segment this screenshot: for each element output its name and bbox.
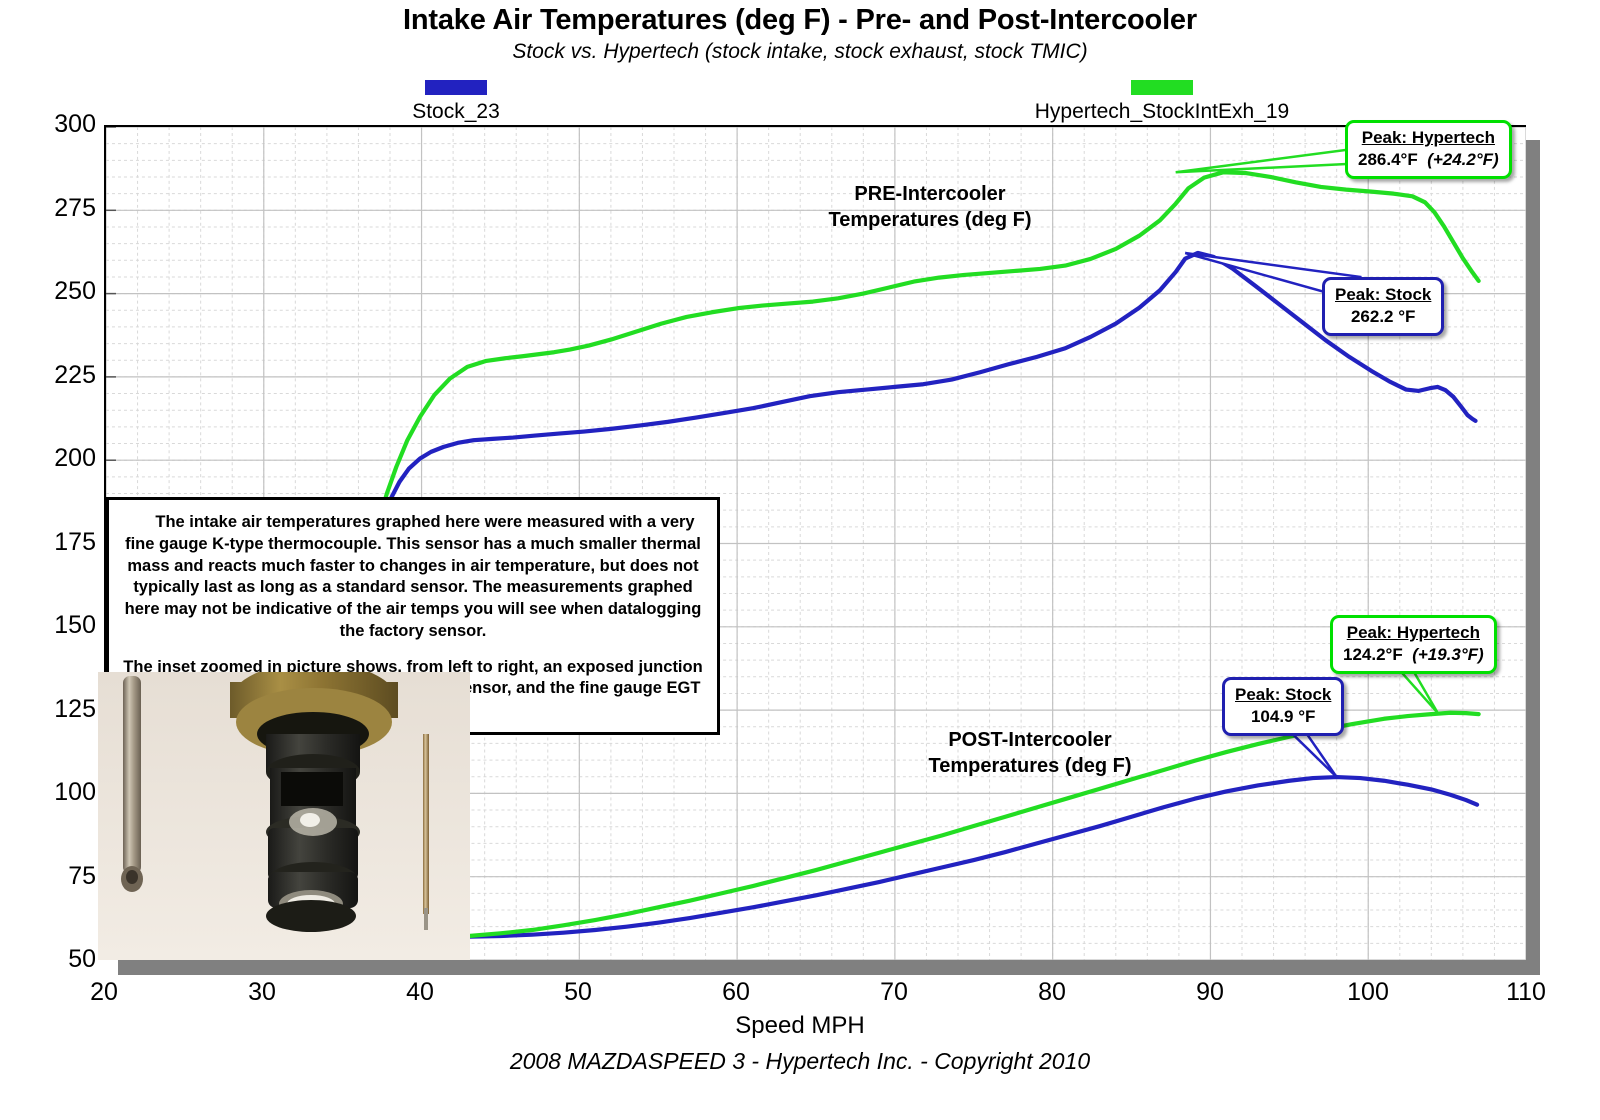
inset-photo-sensors (98, 672, 470, 960)
post-intercooler-note-line2: Temperatures (deg F) (900, 754, 1160, 780)
x-tick-80: 80 (1012, 978, 1092, 1007)
y-tick-200: 200 (6, 444, 96, 473)
x-tick-20: 20 (64, 978, 144, 1007)
y-tick-225: 225 (6, 361, 96, 390)
callout-delta: (+19.3°F) (1412, 645, 1484, 664)
x-tick-40: 40 (380, 978, 460, 1007)
post-intercooler-note-line1: POST-Intercooler (900, 728, 1160, 754)
y-tick-275: 275 (6, 194, 96, 223)
legend-swatch-hypertech (1131, 80, 1193, 95)
pre-intercooler-note-line2: Temperatures (deg F) (805, 208, 1055, 234)
x-tick-50: 50 (538, 978, 618, 1007)
callout-value: 262.2 °F (1335, 306, 1431, 328)
x-tick-70: 70 (854, 978, 934, 1007)
y-tick-50: 50 (6, 945, 96, 974)
y-tick-300: 300 (6, 110, 96, 139)
y-tick-175: 175 (6, 528, 96, 557)
x-tick-100: 100 (1328, 978, 1408, 1007)
post-intercooler-note: POST-Intercooler Temperatures (deg F) (900, 728, 1160, 779)
chart-title: Intake Air Temperatures (deg F) - Pre- a… (0, 4, 1600, 37)
y-tick-100: 100 (6, 778, 96, 807)
y-tick-150: 150 (6, 611, 96, 640)
callout-peak-hypertech-post: Peak: Hypertech 124.2°F (+19.3°F) (1330, 615, 1497, 674)
legend-label-hypertech: Hypertech_StockIntExh_19 (1012, 100, 1312, 124)
plot-shadow-bottom (118, 960, 1540, 975)
legend-label-stock: Stock_23 (346, 100, 566, 124)
x-tick-90: 90 (1170, 978, 1250, 1007)
inset-photo-image (98, 672, 470, 960)
x-tick-110: 110 (1486, 978, 1566, 1007)
plot-shadow-right (1526, 140, 1540, 975)
callout-value: 104.9 °F (1235, 706, 1331, 728)
callout-peak-hypertech-pre: Peak: Hypertech 286.4°F (+24.2°F) (1345, 120, 1512, 179)
callout-peak-stock-pre: Peak: Stock 262.2 °F (1322, 277, 1444, 336)
callout-header: Peak: Stock (1235, 684, 1331, 706)
callout-delta: (+24.2°F) (1427, 150, 1499, 169)
x-axis-title: Speed MPH (0, 1012, 1600, 1040)
legend-swatch-stock (425, 80, 487, 95)
pre-intercooler-note-line1: PRE-Intercooler (805, 182, 1055, 208)
callout-value: 286.4°F (1358, 150, 1418, 169)
chart-footer: 2008 MAZDASPEED 3 - Hypertech Inc. - Cop… (0, 1048, 1600, 1075)
callout-peak-stock-post: Peak: Stock 104.9 °F (1222, 677, 1344, 736)
pre-intercooler-note: PRE-Intercooler Temperatures (deg F) (805, 182, 1055, 233)
x-tick-60: 60 (696, 978, 776, 1007)
callout-header: Peak: Hypertech (1343, 622, 1484, 644)
x-tick-30: 30 (222, 978, 302, 1007)
series-line-post-intercooler-2 (469, 777, 1477, 937)
callout-header: Peak: Stock (1335, 284, 1431, 306)
y-tick-125: 125 (6, 695, 96, 724)
callout-header: Peak: Hypertech (1358, 127, 1499, 149)
chart-subtitle: Stock vs. Hypertech (stock intake, stock… (0, 40, 1600, 64)
y-tick-75: 75 (6, 862, 96, 891)
y-tick-250: 250 (6, 277, 96, 306)
callout-value: 124.2°F (1343, 645, 1403, 664)
note-paragraph-1: The intake air temperatures graphed here… (123, 512, 703, 643)
